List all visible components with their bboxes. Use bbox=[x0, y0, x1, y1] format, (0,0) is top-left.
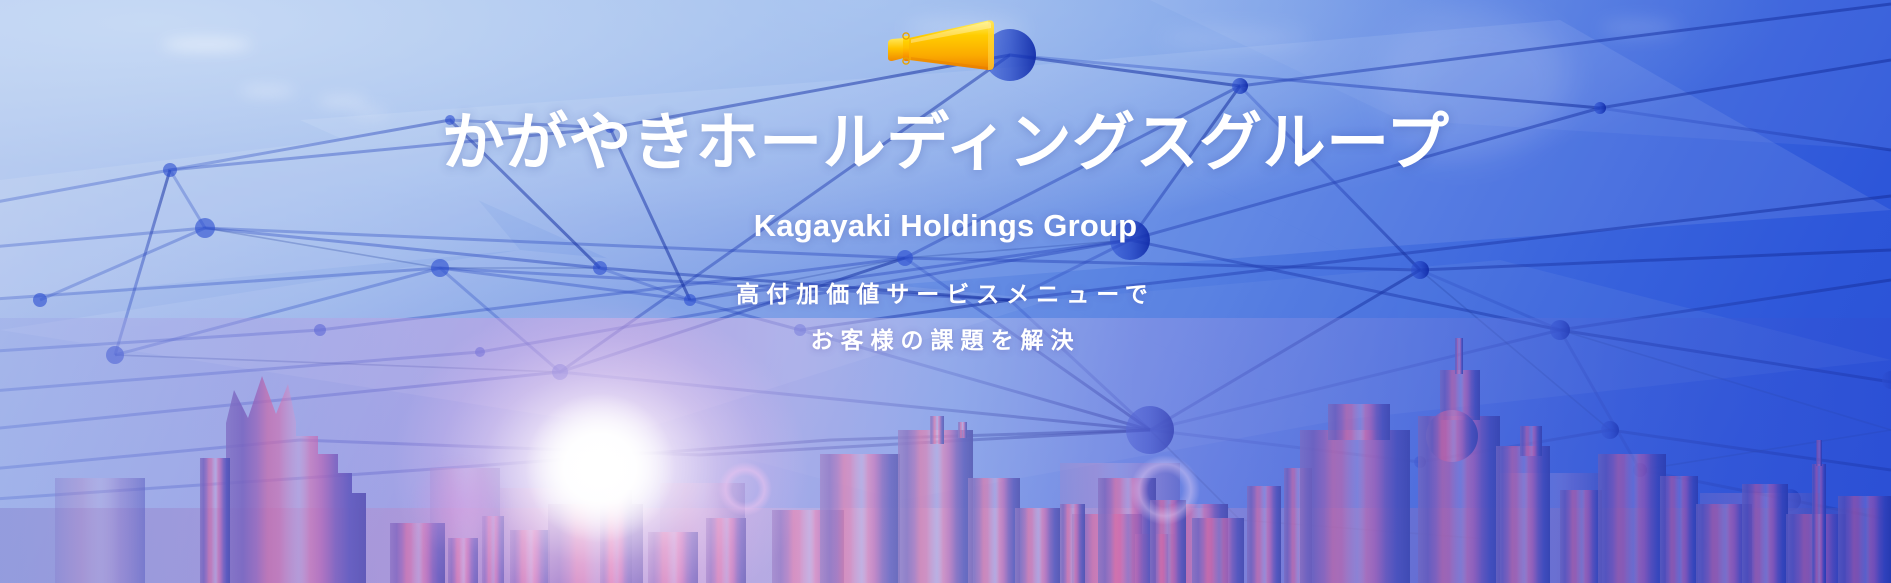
banner-content: かがやきホールディングスグループ Kagayaki Holdings Group… bbox=[0, 0, 1891, 353]
tagline-line-2: お客様の課題を解決 bbox=[0, 330, 1891, 353]
page-subtitle: Kagayaki Holdings Group bbox=[0, 208, 1891, 244]
city-color-wash bbox=[0, 318, 1891, 583]
hero-banner: かがやきホールディングスグループ Kagayaki Holdings Group… bbox=[0, 0, 1891, 583]
tagline-line-1: 高付加価値サービスメニューで bbox=[736, 282, 1155, 308]
city-skyline-band bbox=[0, 318, 1891, 583]
tagline: 高付加価値サービスメニューで お客様の課題を解決 bbox=[0, 284, 1891, 353]
page-title: かがやきホールディングスグループ bbox=[0, 110, 1891, 176]
